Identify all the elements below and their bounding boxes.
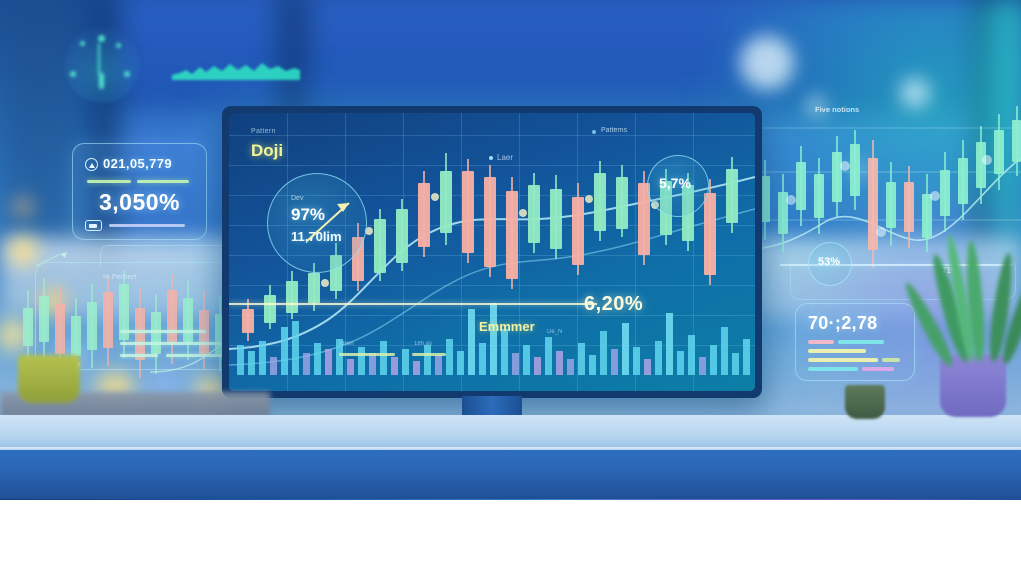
hud-line — [120, 354, 158, 357]
progress-bar — [109, 224, 185, 227]
stats-right-value: 70·;2,78 — [808, 313, 877, 334]
monitor-screen[interactable]: Pattern Doji Patterns Laer Emmmer 6,20% … — [229, 113, 755, 391]
stats-bar — [808, 367, 858, 371]
stats-bar — [808, 340, 834, 344]
stats-bar — [862, 367, 894, 371]
stats-bar — [808, 358, 878, 362]
hud-line — [120, 342, 226, 345]
badge-57-value: 5,7% — [659, 175, 691, 191]
stats-card-right[interactable]: 70·;2,78 — [795, 303, 915, 381]
stats-bar — [838, 340, 884, 344]
percent-value: 3,050% — [99, 189, 180, 216]
hud-line — [120, 330, 206, 333]
stats-bar — [808, 349, 866, 353]
five-notions-label: Five notions — [815, 105, 859, 114]
waveform-icon — [172, 58, 300, 80]
floating-chart-right — [735, 100, 1021, 280]
title-bar: MEVX VS SIGMA VS FOMO VS BLOOM — [0, 500, 1021, 576]
screenshot-root: 021,05,779 3,050% — [0, 0, 1021, 576]
badge-53-value: 53% — [818, 256, 840, 268]
desk-front-panel — [0, 450, 1021, 500]
hud-line — [166, 354, 226, 357]
stats-card-left[interactable]: 021,05,779 3,050% — [72, 143, 207, 240]
monitor[interactable]: Pattern Doji Patterns Laer Emmmer 6,20% … — [222, 106, 762, 398]
radar-sonar-icon — [64, 27, 140, 103]
coffee-cup — [845, 385, 885, 419]
ticker-value: 021,05,779 — [103, 156, 172, 171]
perbert-label: % Perbert — [103, 272, 136, 281]
bokeh-light — [740, 36, 794, 90]
divider-dash — [137, 180, 189, 183]
triangle-up-icon — [85, 158, 98, 171]
scene-image: 021,05,779 3,050% — [0, 0, 1021, 500]
small-pot — [18, 355, 80, 403]
divider-dash — [87, 180, 131, 183]
stats-bar — [882, 358, 900, 362]
bokeh-light — [12, 196, 34, 218]
card-icon — [85, 220, 102, 231]
